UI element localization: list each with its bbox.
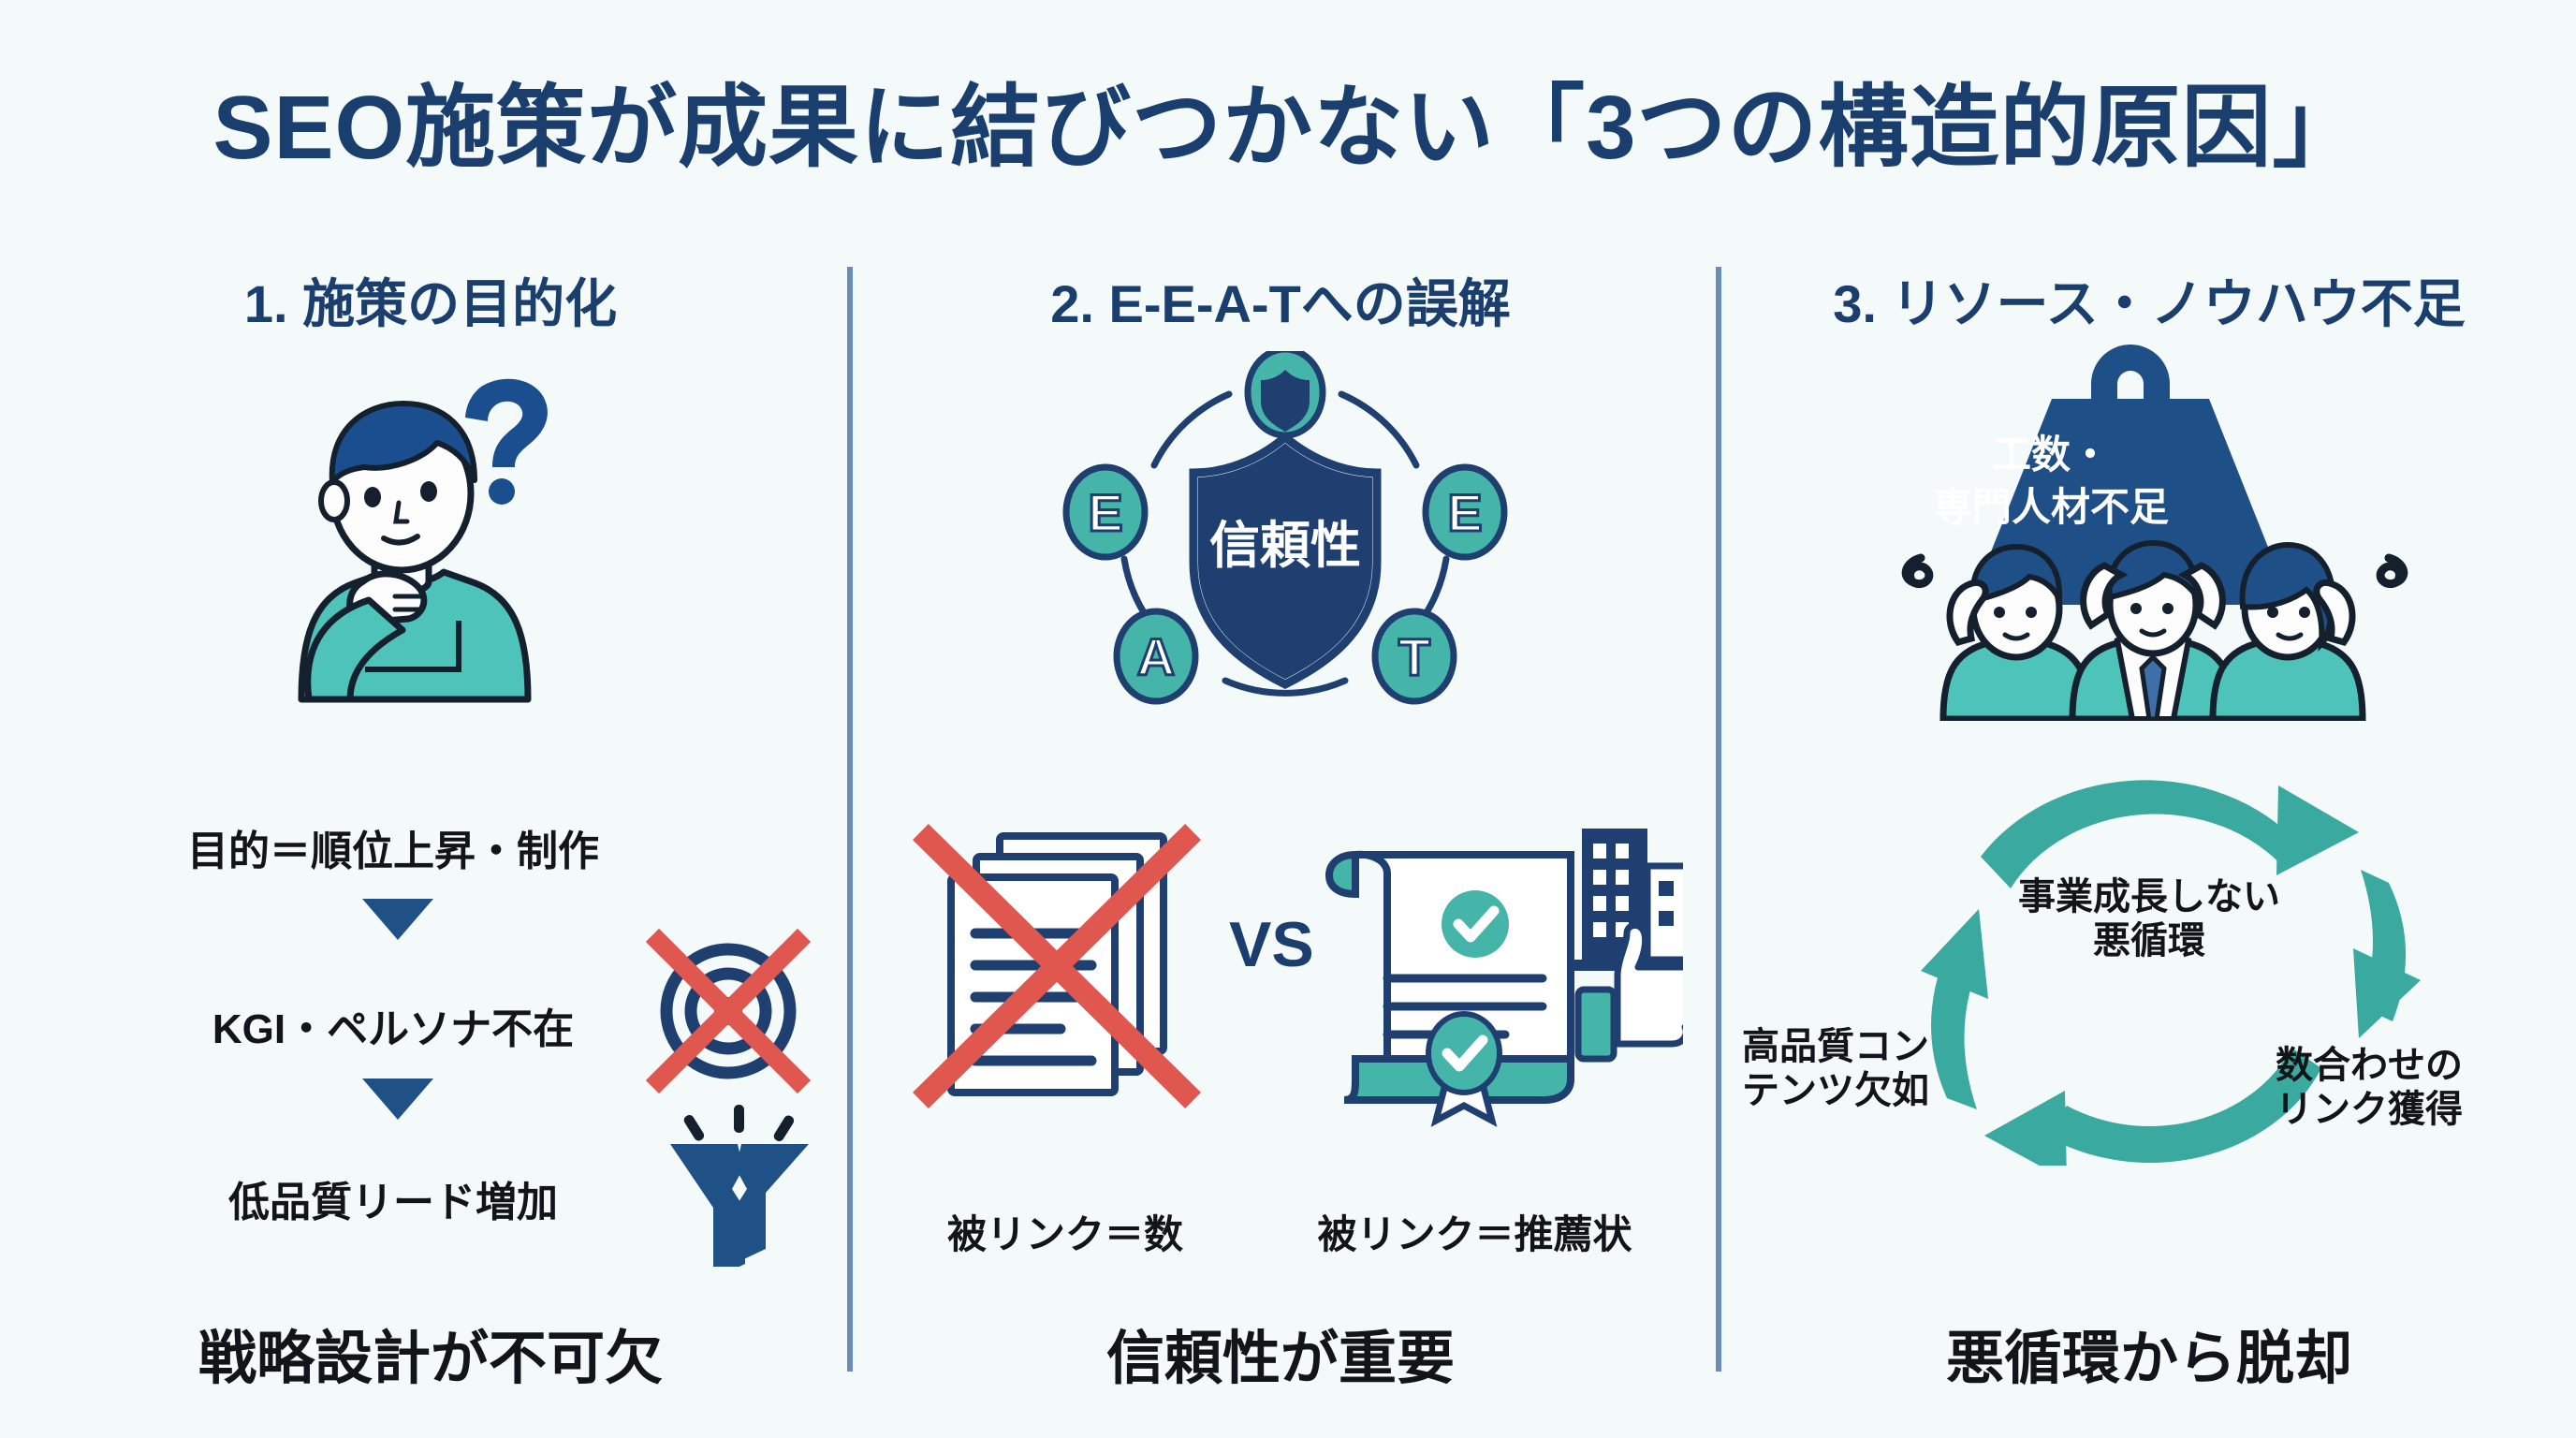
stressed-person-center <box>2072 543 2233 719</box>
vs-caption-left: 被リンク＝数 <box>878 1203 1252 1260</box>
flow-arrow-2-icon <box>362 1078 433 1120</box>
weight-label-line-1: 工数・ <box>1854 423 2247 480</box>
column-divider-2 <box>1716 267 1721 1372</box>
broken-funnel-icon <box>655 1103 824 1267</box>
eeat-node-a: A <box>1117 611 1195 701</box>
column-1-header: 1. 施策の目的化 <box>9 262 852 338</box>
column-3-footer: 悪循環から脱却 <box>1728 1311 2570 1395</box>
column-1-footer: 戦略設計が不可欠 <box>9 1311 852 1395</box>
column-3-resource-shortage: 3. リソース・ノウハウ不足 <box>1728 262 2570 1386</box>
certificate-with-seal-icon <box>1329 829 1683 1121</box>
cycle-center-label: 事業成長しない 悪循環 <box>1962 875 2336 963</box>
column-1-purpose-drift: 1. 施策の目的化 <box>9 262 852 1386</box>
weight-label-line-2: 専門人材不足 <box>1854 476 2247 533</box>
crossed-out-documents-icon <box>929 836 1185 1093</box>
eeat-node-top <box>1248 351 1323 435</box>
thinking-person-illustration <box>253 360 608 707</box>
column-2-header: 2. E-E-A-Tへの誤解 <box>859 262 1702 338</box>
cycle-right-line-2: リンク獲得 <box>2276 1089 2463 1130</box>
cycle-center-line-1: 事業成長しない <box>2018 876 2280 917</box>
eeat-node-left-e: E <box>1066 467 1145 557</box>
eeat-node-right-e: E <box>1426 467 1504 557</box>
svg-text:E: E <box>1447 483 1482 542</box>
shield-center-label: 信頼性 <box>1209 518 1361 574</box>
eeat-diagram: 信頼性 E E A <box>1042 351 1529 716</box>
crossed-out-target-icon <box>635 917 822 1105</box>
page-title: SEO施策が成果に結びつかない「3つの構造的原因」 <box>0 54 2576 184</box>
vs-caption-right: 被リンク＝推薦状 <box>1262 1203 1688 1260</box>
cycle-right-label: 数合わせの リンク獲得 <box>2276 1044 2556 1132</box>
svg-text:T: T <box>1398 627 1430 686</box>
svg-text:A: A <box>1137 627 1175 686</box>
vs-label: VS <box>1229 908 1314 981</box>
infographic-canvas: SEO施策が成果に結びつかない「3つの構造的原因」 1. 施策の目的化 <box>0 0 2576 1438</box>
eeat-node-t: T <box>1375 611 1454 701</box>
column-2-footer: 信頼性が重要 <box>859 1311 1702 1395</box>
cycle-right-line-1: 数合わせの <box>2276 1045 2463 1086</box>
cycle-left-line-1: 高品質コン <box>1742 1026 1929 1067</box>
column-3-header: 3. リソース・ノウハウ不足 <box>1728 262 2570 338</box>
flow-arrow-1-icon <box>362 899 433 940</box>
svg-text:E: E <box>1088 483 1122 542</box>
cycle-left-line-2: テンツ欠如 <box>1742 1070 1929 1111</box>
cycle-left-label: 高品質コン テンツ欠如 <box>1742 1025 2013 1113</box>
cycle-center-line-2: 悪循環 <box>2093 920 2205 961</box>
central-shield-icon: 信頼性 <box>1193 437 1377 684</box>
flow-step-1: 目的＝順位上昇・制作 <box>9 817 777 877</box>
column-2-eeat-misunderstanding: 2. E-E-A-Tへの誤解 信頼性 <box>859 262 1702 1386</box>
